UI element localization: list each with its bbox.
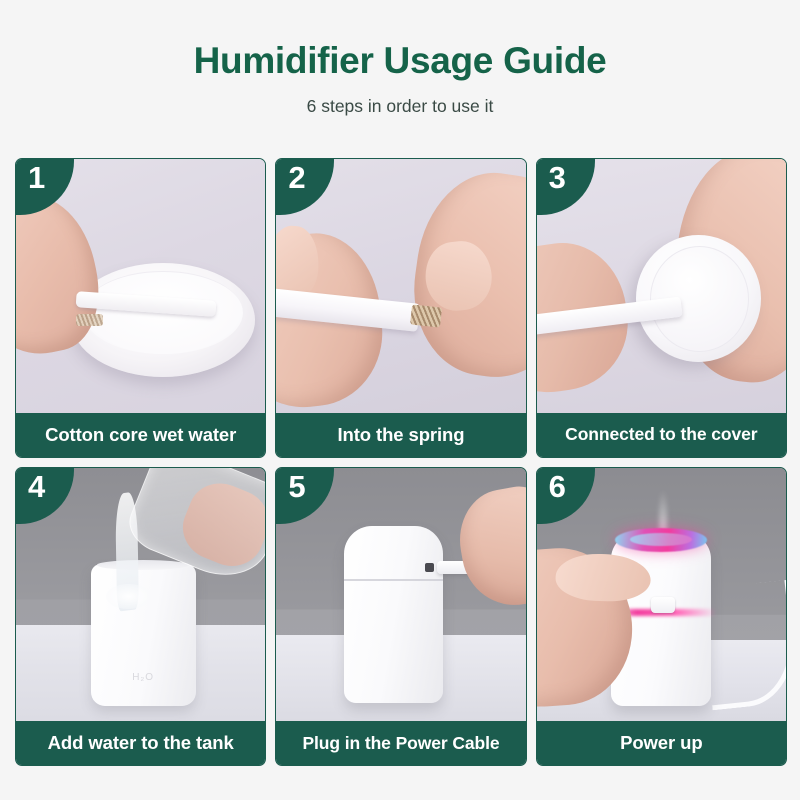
step-caption-4: Add water to the tank	[16, 721, 265, 765]
spring-coil	[76, 314, 103, 327]
step-caption-5: Plug in the Power Cable	[276, 721, 525, 765]
water-tank: H₂O	[91, 564, 196, 706]
step-photo-4: H₂O 4	[16, 468, 265, 722]
step-caption-6: Power up	[537, 721, 786, 765]
step-card-4[interactable]: H₂O 4 Add water to the tank	[15, 467, 266, 767]
page-title: Humidifier Usage Guide	[0, 40, 800, 83]
thumb	[422, 238, 495, 313]
step-photo-1: 1	[16, 159, 265, 413]
water-splash	[106, 584, 151, 609]
humidifier-body	[344, 526, 444, 703]
step-card-5[interactable]: 5 Plug in the Power Cable	[275, 467, 526, 767]
humidifier-cover	[636, 235, 761, 362]
step-photo-2: 2	[276, 159, 525, 413]
body-seam	[344, 579, 444, 581]
step-card-2[interactable]: 2 Into the spring	[275, 158, 526, 458]
steps-grid: 1 Cotton core wet water 2 Into the sprin…	[15, 158, 787, 766]
step-card-1[interactable]: 1 Cotton core wet water	[15, 158, 266, 458]
led-light-ring	[615, 528, 707, 552]
usage-guide-page: Humidifier Usage Guide 6 steps in order …	[0, 0, 800, 800]
step-caption-3: Connected to the cover	[537, 413, 786, 457]
step-card-3[interactable]: 3 Connected to the cover	[536, 158, 787, 458]
hand	[173, 474, 266, 577]
step-card-6[interactable]: 6 Power up	[536, 467, 787, 767]
spring-coil	[410, 305, 442, 328]
finger	[16, 277, 18, 310]
power-button[interactable]	[651, 597, 675, 613]
step-caption-1: Cotton core wet water	[16, 413, 265, 457]
step-photo-5: 5	[276, 468, 525, 722]
page-subtitle: 6 steps in order to use it	[0, 96, 800, 117]
power-cord	[700, 580, 786, 710]
step-caption-2: Into the spring	[276, 413, 525, 457]
thumb	[276, 224, 321, 300]
usb-port	[425, 563, 434, 572]
page-header: Humidifier Usage Guide 6 steps in order …	[0, 0, 800, 117]
step-photo-3: 3	[537, 159, 786, 413]
tank-label: H₂O	[91, 672, 196, 683]
step-photo-6: 6	[537, 468, 786, 722]
